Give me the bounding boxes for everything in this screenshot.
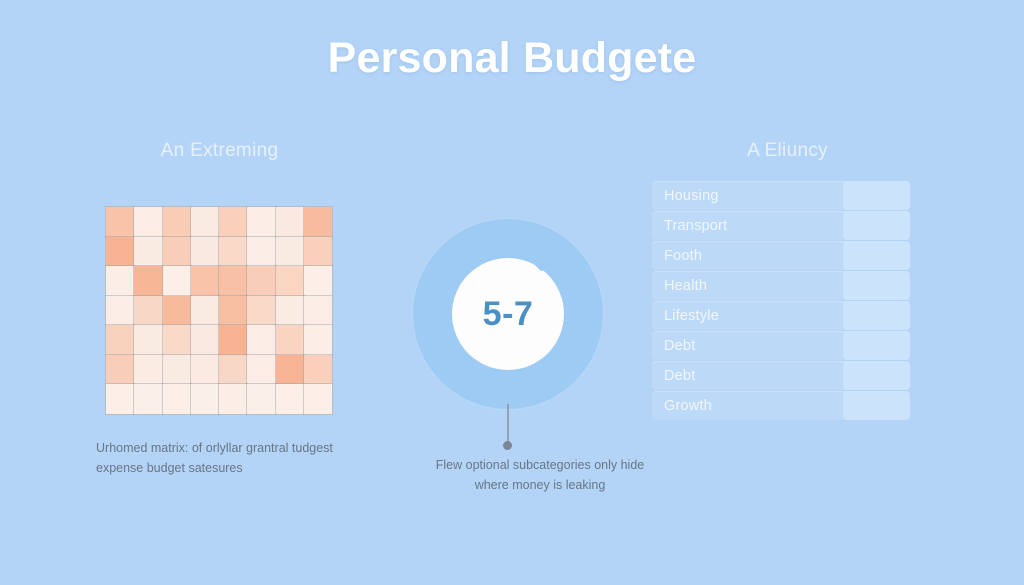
heatmap-cell [219,266,247,296]
heatmap-cell [276,266,304,296]
bar-label: Housing [652,188,719,204]
heatmap-cell [247,384,275,414]
heatmap-cell [163,384,191,414]
donut-connector-line [507,404,509,446]
heatmap-cell [134,237,162,267]
heatmap-cell [163,266,191,296]
bar-fill [843,181,910,210]
bar-label: Debt [652,368,695,384]
heatmap-cell [191,207,219,237]
heatmap-cell [191,296,219,326]
heatmap-cell [304,207,332,237]
bar-fill [843,301,910,330]
heatmap-cell [163,355,191,385]
donut-center-value: 5-7 [412,218,604,410]
bar-fill [843,211,910,240]
heatmap-cell [163,207,191,237]
bar-fill [843,361,910,390]
bar-label: Transport [652,218,727,234]
heatmap-cell [219,207,247,237]
heatmap-cell [134,325,162,355]
donut-connector-dot [503,441,512,450]
heatmap-cell [106,237,134,267]
bar-row[interactable]: Debt [652,331,910,360]
bar-label: Health [652,278,707,294]
bar-fill [843,271,910,300]
bar-label: Debt [652,338,695,354]
heatmap-cell [106,266,134,296]
heatmap-cell [247,266,275,296]
bar-row[interactable]: Debt [652,361,910,390]
heatmap-cell [191,384,219,414]
heatmap-cell [247,237,275,267]
heatmap-cell [219,237,247,267]
bar-row[interactable]: Lifestyle [652,301,910,330]
heatmap-cell [276,296,304,326]
heatmap-cell [191,266,219,296]
heatmap-cell [304,266,332,296]
heatmap-cell [134,266,162,296]
heatmap-cell [219,296,247,326]
heatmap-cell [106,325,134,355]
heatmap-cell [304,355,332,385]
heatmap-cell [276,237,304,267]
heatmap-cell [247,325,275,355]
heatmap-cell [247,296,275,326]
bar-label: Growth [652,398,712,414]
left-section-heading: An Extreming [92,140,347,162]
bar-row[interactable]: Footh [652,241,910,270]
heatmap-cell [106,296,134,326]
bar-fill [843,391,910,420]
heatmap-cell [247,207,275,237]
bar-label: Footh [652,248,702,264]
right-section-heading: A Eliuncy [660,140,915,162]
bar-fill [843,331,910,360]
donut-chart: 5-7 [412,218,604,410]
heatmap-cell [276,325,304,355]
heatmap-cell [304,325,332,355]
center-section-caption: Flew optional subcategories only hide wh… [420,455,660,495]
heatmap-cell [276,384,304,414]
bar-row[interactable]: Health [652,271,910,300]
heatmap-cell [276,207,304,237]
heatmap-cell [106,355,134,385]
heatmap-cell [304,237,332,267]
left-section-caption: Urhomed matrix: of orlyllar grantral tud… [96,438,366,478]
bar-row[interactable]: Housing [652,181,910,210]
heatmap-cell [134,207,162,237]
bar-label: Lifestyle [652,308,719,324]
heatmap-cell [219,355,247,385]
heatmap-cell [304,384,332,414]
heatmap-cell [134,355,162,385]
heatmap-cell [219,384,247,414]
heatmap-cell [134,296,162,326]
heatmap-cell [191,325,219,355]
heatmap-cell [163,237,191,267]
heatmap-cell [276,355,304,385]
bar-row[interactable]: Transport [652,211,910,240]
heatmap-cell [191,355,219,385]
bar-row[interactable]: Growth [652,391,910,420]
heatmap-cell [191,237,219,267]
heatmap-cell [163,296,191,326]
heatmap-cell [304,296,332,326]
page-title: Personal Budgete [0,34,1024,83]
heatmap-cell [134,384,162,414]
bar-fill [843,241,910,270]
budget-category-bar-list: HousingTransportFoothHealthLifestyleDebt… [652,181,910,421]
heatmap-cell [247,355,275,385]
heatmap-cell [219,325,247,355]
heatmap-grid [105,206,333,415]
heatmap-cell [106,207,134,237]
heatmap-cell [163,325,191,355]
heatmap-panel [105,206,333,415]
heatmap-cell [106,384,134,414]
